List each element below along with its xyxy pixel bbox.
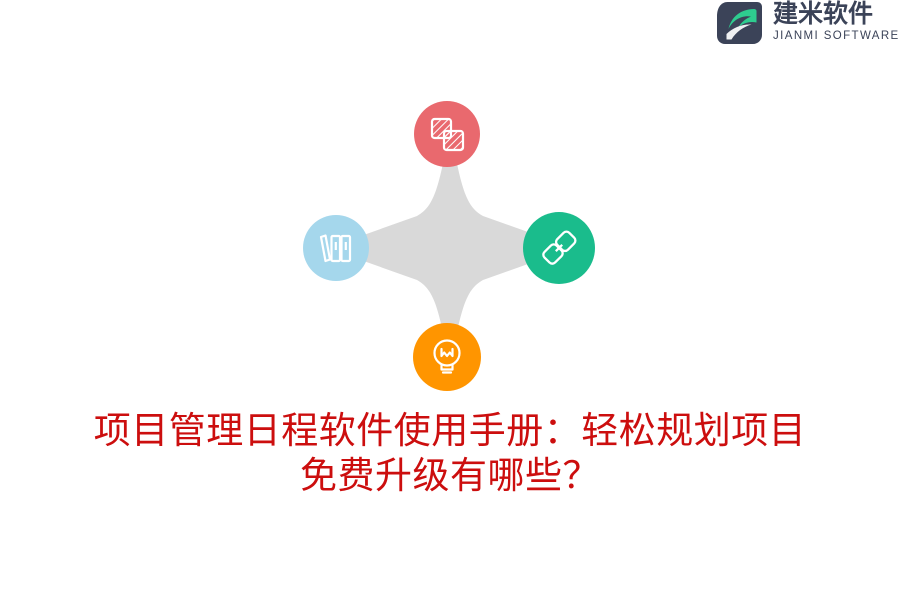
page-title: 项目管理日程软件使用手册：轻松规划项目 免费升级有哪些？: [0, 408, 900, 498]
page-title-line-1: 项目管理日程软件使用手册：轻松规划项目: [0, 408, 900, 453]
diagram-node-right[interactable]: [523, 212, 595, 284]
brand-name-cn: 建米软件: [773, 0, 900, 28]
jianmi-logo-mark-icon: [713, 0, 765, 48]
brand-logo: 建米软件 JIANMI SOFTWARE: [713, 0, 900, 52]
diagram-node-bottom[interactable]: [413, 323, 481, 391]
four-node-diagram: [287, 88, 613, 408]
diagram-canvas: [287, 88, 613, 408]
diagram-node-left[interactable]: [303, 215, 369, 281]
brand-text: 建米软件 JIANMI SOFTWARE: [773, 0, 900, 43]
page-title-line-2: 免费升级有哪些？: [0, 453, 900, 498]
brand-name-en: JIANMI SOFTWARE: [773, 29, 900, 43]
diagram-node-top[interactable]: [414, 101, 480, 167]
